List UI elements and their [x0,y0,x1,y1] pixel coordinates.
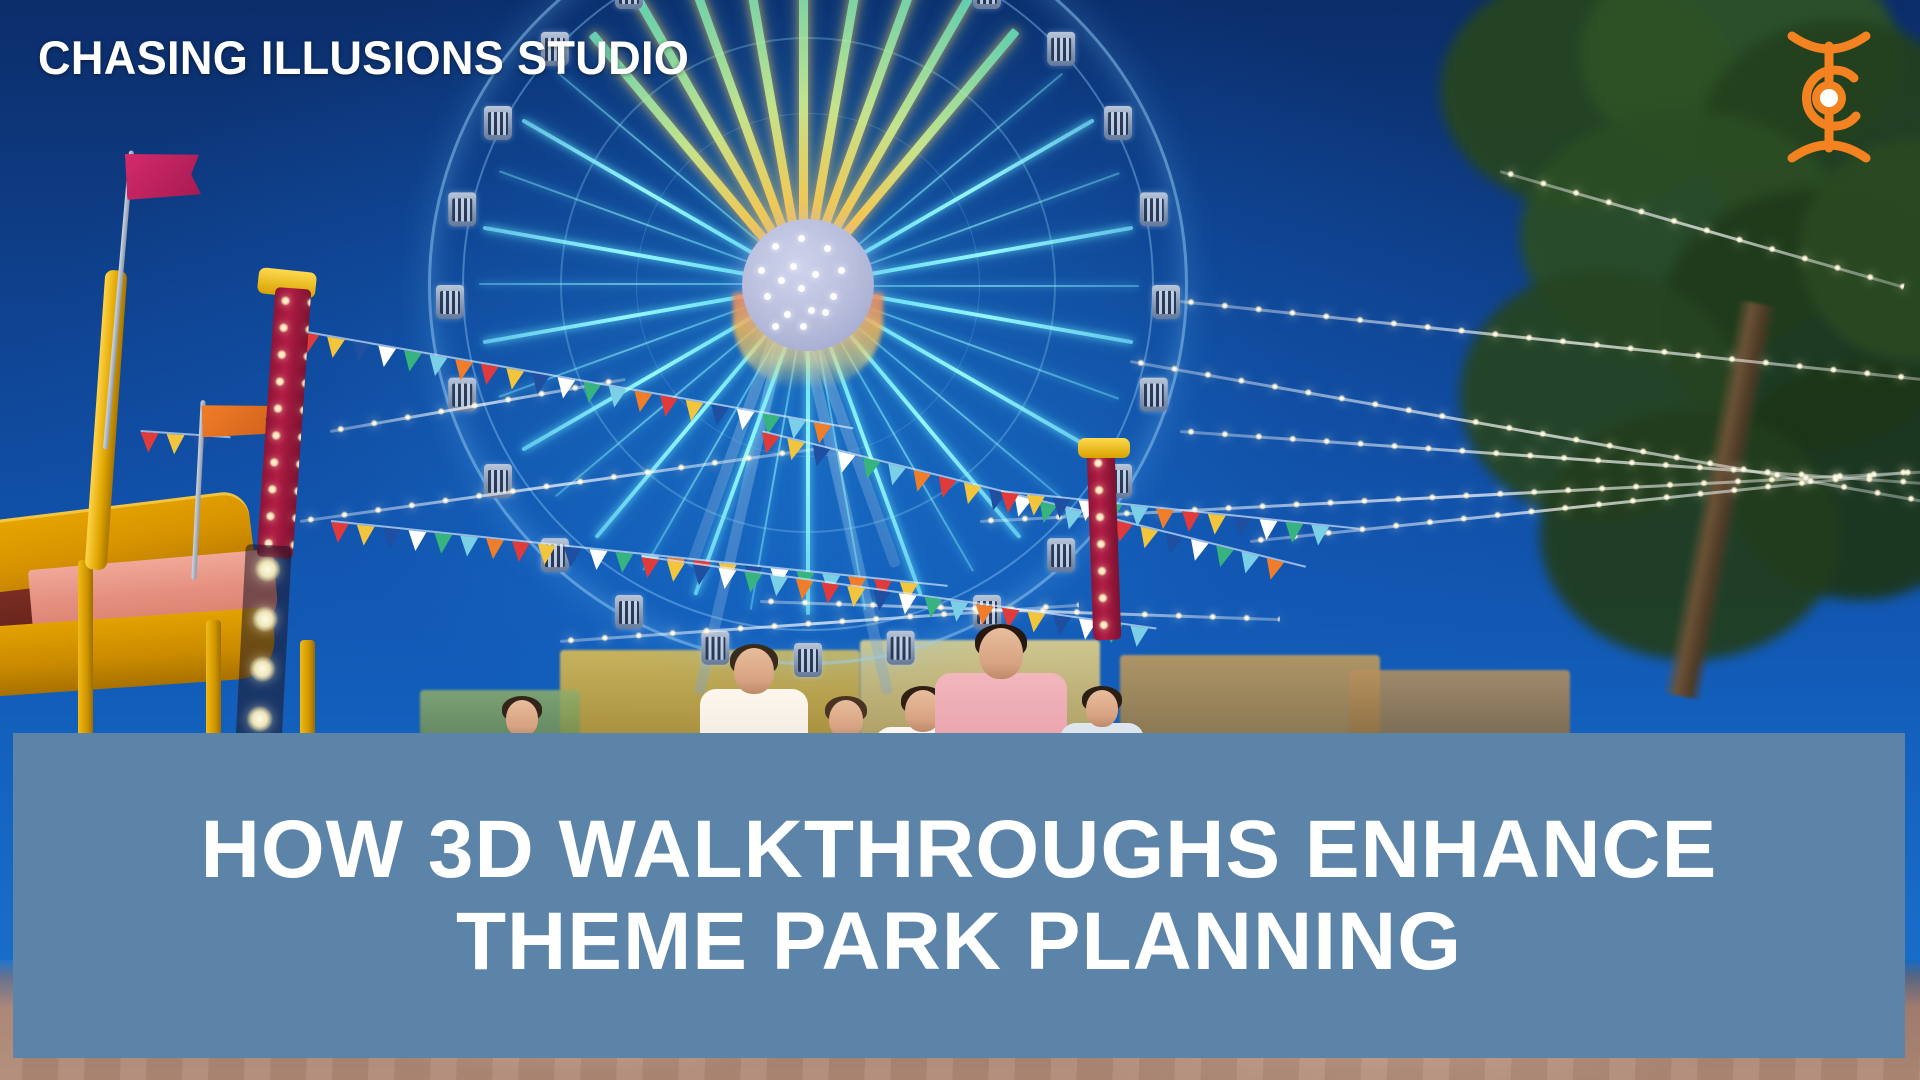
bunting-flag [682,400,703,423]
bunting-flag [510,541,530,563]
bunting-flag [1283,522,1303,544]
bunting-flag [484,538,504,560]
bunting-flag [587,549,607,571]
bunting-flag [1051,497,1071,519]
brand-title: CHASING ILLUSIONS STUDIO [38,30,689,85]
title-banner: HOW 3D WALKTHROUGHS ENHANCE THEME PARK P… [13,733,1905,1058]
bunting-flag [349,341,370,364]
bunting-flag [973,604,994,626]
logo-inner-dot [1820,89,1838,107]
hub-light [838,267,845,274]
visitor-head [979,628,1023,679]
bunting-flag [605,386,626,409]
hub-light [784,311,791,318]
wheel-cabin [436,285,464,319]
bunting-flag [810,422,831,445]
wheel-cabin [1152,285,1180,319]
visitor-head [1086,690,1118,727]
bunting-flag [529,373,550,396]
bunting-flag [1186,539,1208,563]
bunting-flag [858,457,880,481]
bunting-flag [664,561,685,583]
bunting-flag [947,601,968,623]
bunting-flag [324,337,345,360]
bunting-flag [638,557,659,579]
wheel-cabin [973,0,1001,9]
visitor-head [506,700,538,737]
pennant-orange [201,403,274,437]
hero-image: CHASING ILLUSIONS STUDIO HOW 3D WALKTHRO… [0,0,1920,1080]
bunting-flag [909,470,931,494]
visitor-head [734,648,774,694]
wheel-cabin [615,0,643,9]
wheel-cabin [448,192,476,226]
bunting-flag [934,476,956,500]
bunting-flag [757,432,779,456]
bunting-flag [793,579,814,601]
wheel-cabin [1140,378,1168,412]
wheel-cabin [615,595,643,629]
bunting-flag [562,547,582,569]
bunting-flag [896,593,917,615]
hub-light [790,263,797,270]
ferris-wheel [428,0,1188,665]
bunting-flag [432,533,452,555]
banner-title-line-2: THEME PARK PLANNING [456,900,1462,984]
right-ride-tower-cap [1078,438,1130,458]
hub-light [772,243,779,250]
bunting-flag [833,451,855,475]
bunting-flag [1232,517,1252,539]
hub-light [830,293,837,300]
hub-light [812,271,819,278]
bunting-flag [959,483,981,507]
hub-light [764,293,771,300]
bunting-flag [1262,558,1284,582]
bunting-flag [406,530,426,552]
bunting-flag [458,536,478,558]
bunting-flag [613,552,633,574]
bunting-flag [401,350,422,373]
hub-light [824,245,831,252]
bunting-flag [1128,506,1148,528]
hub-light [808,307,815,314]
bunting-flag [657,395,678,418]
bunting-flag [1257,519,1277,541]
bunting-flag [631,391,652,414]
studio-logo[interactable] [1770,22,1888,172]
bunting-flag [808,445,830,469]
bunting-flag [580,382,601,405]
bunting-flag [741,572,762,594]
bunting-flag [1154,508,1174,530]
banner-title-line-1: HOW 3D WALKTHROUGHS ENHANCE [201,808,1718,892]
bunting-flag [503,368,524,391]
bunting-flag [844,586,865,608]
hub-light [778,277,785,284]
bunting-flag [1211,545,1233,569]
hub-light [772,323,779,330]
bunting-flag [381,527,401,549]
bunting-flag [1237,552,1259,576]
bunting-flag [716,568,737,590]
bunting-flag [819,582,840,604]
wheel-cabin [887,631,915,665]
bunting-flag [355,525,375,547]
bunting-flag [767,575,788,597]
wheel-hub [742,219,874,351]
bunting-flag [1161,533,1183,557]
wheel-cabin [1140,192,1168,226]
bunting-flag [426,355,447,378]
bunting-flag [783,439,805,463]
bunting-flag [554,377,575,400]
wheel-cabin [1047,538,1075,572]
bunting-flag [477,364,498,387]
bunting-flag [999,492,1019,514]
bunting-flag [1025,495,1045,517]
bunting-flag [883,464,905,488]
wheel-cabin [484,106,512,140]
bunting-flag [690,564,711,586]
bunting-flag [452,359,473,382]
bunting-flag [375,346,396,369]
bunting-flag [329,522,349,544]
bunting-flag [922,597,943,619]
hub-light [798,235,805,242]
bunting-flag [139,432,158,453]
wheel-cabin [1047,32,1075,66]
bunting-flag [870,590,891,612]
hub-light [800,323,807,330]
bunting-flag [708,404,729,427]
bunting-flag [1309,525,1329,547]
bunting-flag [733,409,754,432]
bunting-flag [536,544,556,566]
bunting-flag [1206,514,1226,536]
hub-light [798,285,805,292]
bunting-flag [165,434,184,455]
bunting-flag [1128,626,1149,648]
bunting-flag [1180,511,1200,533]
hub-light [758,267,765,274]
bunting-flag [1136,527,1158,551]
pennant-pink [125,150,201,200]
hub-light [822,309,829,316]
wheel-cabin [1104,106,1132,140]
